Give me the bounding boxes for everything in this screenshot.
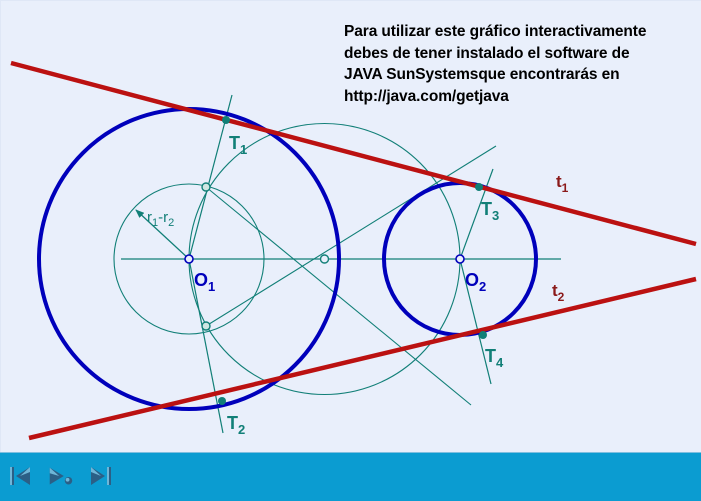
intersection-marker-upper [202, 183, 210, 191]
intersection-marker-lower [202, 322, 210, 330]
note-line-3: JAVA SunSystemsque encontrarás en [344, 64, 694, 86]
label-tangency-t3: T3 [481, 199, 499, 223]
note-line-2: debes de tener instalado el software de [344, 43, 694, 65]
center-point-o1[interactable] [185, 255, 193, 263]
tangency-point-t2[interactable] [218, 397, 226, 405]
note-line-1: Para utilizar este gráfico interactivame… [344, 21, 694, 43]
tangency-point-t3[interactable] [475, 183, 483, 191]
player-toolbar [0, 452, 701, 501]
note-line-4: http://java.com/getjava [344, 86, 694, 108]
applet-window: O1 O2 T1 T2 T3 T4 t1 t2 [0, 0, 701, 501]
label-radius-difference: r1-r2 [147, 209, 174, 229]
tangency-point-t1[interactable] [222, 116, 230, 124]
geometry-canvas[interactable]: O1 O2 T1 T2 T3 T4 t1 t2 [0, 0, 701, 452]
instruction-note: Para utilizar este gráfico interactivame… [344, 21, 694, 107]
label-tangent-line-t2: t2 [552, 281, 565, 304]
skip-to-end-button[interactable] [86, 463, 116, 489]
construction-chord-lower [206, 146, 496, 326]
skip-to-start-button[interactable] [6, 463, 36, 489]
skip-forward-icon [87, 464, 115, 488]
play-icon [46, 464, 76, 488]
label-tangency-t1: T1 [229, 133, 247, 157]
label-tangent-line-t1: t1 [556, 172, 569, 195]
construction-chord-upper [206, 187, 471, 405]
label-o1: O1 [194, 270, 215, 294]
player-controls [6, 459, 116, 493]
tangency-point-t4[interactable] [479, 331, 487, 339]
skip-back-icon [7, 464, 35, 488]
tangent-line-t2[interactable] [29, 279, 696, 438]
play-step-button[interactable] [46, 463, 76, 489]
midpoint-marker[interactable] [321, 255, 329, 263]
label-tangency-t2: T2 [227, 413, 245, 437]
center-point-o2[interactable] [456, 255, 464, 263]
label-tangency-t4: T4 [485, 346, 504, 370]
